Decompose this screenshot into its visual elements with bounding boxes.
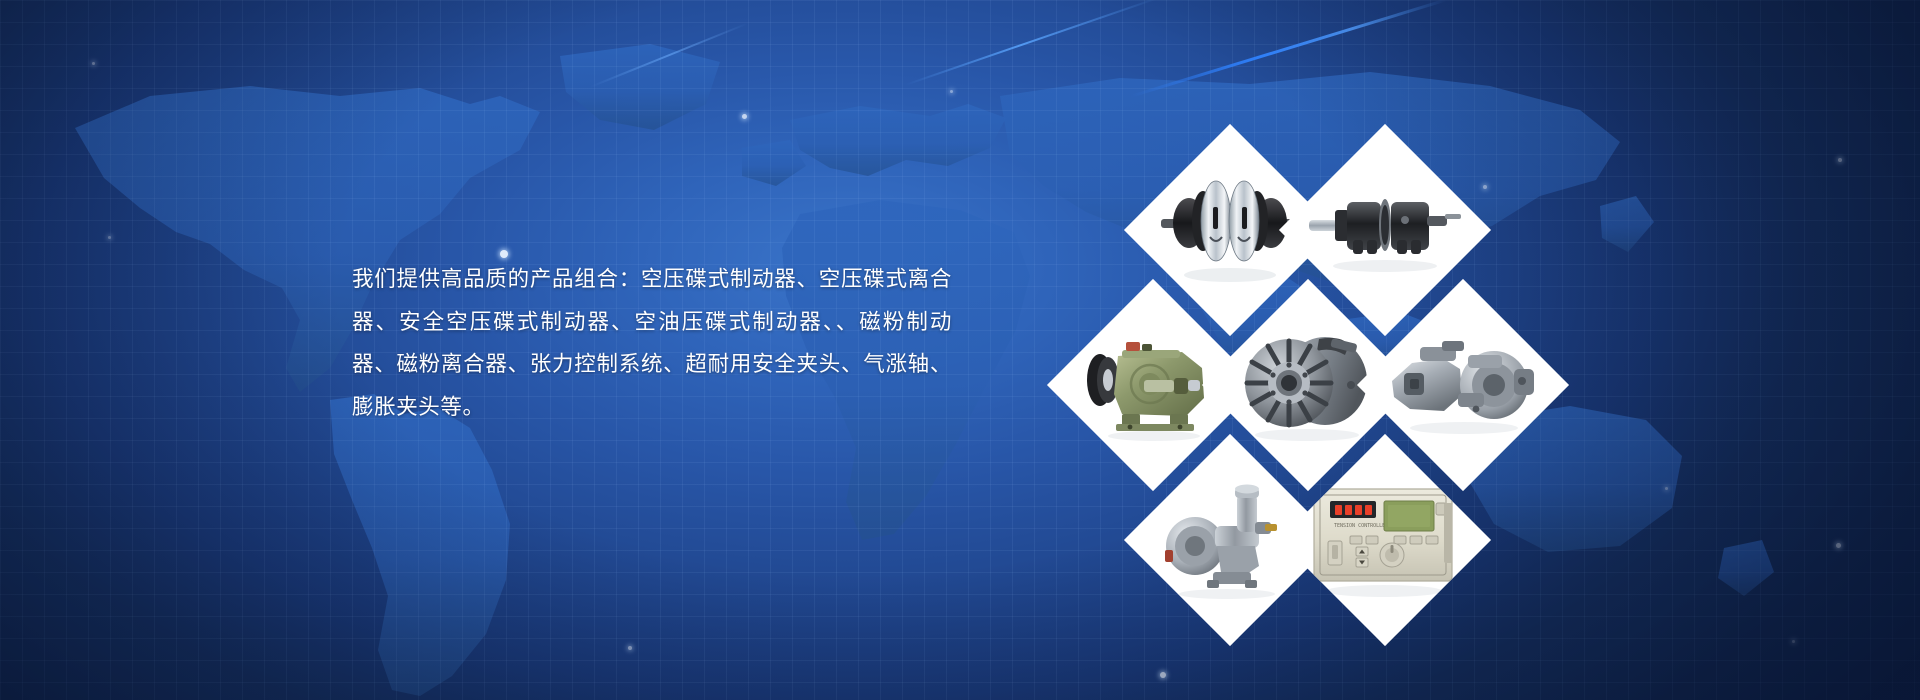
sparkle-icon xyxy=(500,250,508,258)
grid-overlay xyxy=(0,0,1920,700)
vignette-overlay xyxy=(0,0,1920,700)
sparkle-icon xyxy=(742,114,747,119)
sparkle-icon xyxy=(1665,487,1668,490)
hydraulic-caliper-unit-icon xyxy=(1386,333,1541,438)
sparkle-icon xyxy=(1836,543,1841,548)
sparkle-icon xyxy=(950,90,953,93)
sparkle-icon xyxy=(108,236,111,239)
banner-description-text: 我们提供高品质的产品组合：空压碟式制动器、空压碟式离合器、安全空压碟式制动器、空… xyxy=(352,258,952,428)
sparkle-icon xyxy=(1838,158,1842,162)
world-map-background xyxy=(0,0,1920,700)
hero-banner: 我们提供高品质的产品组合：空压碟式制动器、空压碟式离合器、安全空压碟式制动器、空… xyxy=(0,0,1920,700)
sparkle-icon xyxy=(628,646,632,650)
sparkle-icon xyxy=(92,62,95,65)
light-streak-icon xyxy=(590,22,748,87)
light-streak-icon xyxy=(1130,0,1446,97)
light-streak-icon xyxy=(905,0,1161,86)
sparkle-icon xyxy=(1160,672,1166,678)
tension-controller-icon: TENSION CONTROLLER xyxy=(1308,481,1463,599)
product-diamond-collage: TENSION CONTROLLER xyxy=(1010,140,1570,560)
shaft-mounted-clutch-icon xyxy=(1305,180,1465,280)
sparkle-icon xyxy=(1792,640,1795,643)
svg-text:TENSION CONTROLLER: TENSION CONTROLLER xyxy=(1334,523,1389,529)
